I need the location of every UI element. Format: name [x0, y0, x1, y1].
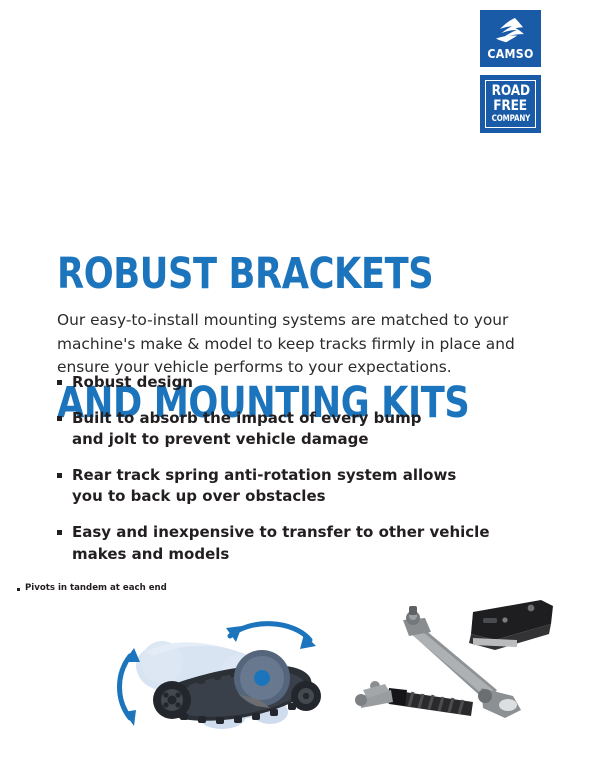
road-free-inner-border: ROAD FREE COMPANY [485, 80, 536, 128]
headline-line-1: ROBUST BRACKETS [57, 253, 469, 296]
square-bullet-icon [57, 473, 62, 478]
road-free-line-1: ROAD [491, 84, 529, 99]
track-drive-sprocket [234, 650, 290, 706]
camso-chevron-icon [494, 17, 528, 43]
road-free-line-3: COMPANY [491, 115, 529, 124]
pivot-arrow-top [226, 624, 316, 649]
list-item-label: Robust design [72, 372, 193, 394]
camso-logo-box: CAMSO [480, 10, 541, 67]
list-item: Rear track spring anti-rotation system a… [57, 465, 527, 508]
square-bullet-icon [57, 416, 62, 421]
track-rear-wheel [291, 681, 321, 711]
list-item: Built to absorb the impact of every bump… [57, 408, 527, 451]
coil-spring-damper [355, 681, 473, 716]
mounting-hardware-photo [345, 590, 570, 725]
road-free-line-2: FREE [494, 99, 528, 114]
intro-paragraph: Our easy-to-install mounting systems are… [57, 309, 527, 379]
mounting-bracket [469, 600, 553, 650]
pivot-arrow-left [120, 648, 141, 726]
footnote-label: Pivots in tandem at each end [25, 583, 167, 594]
camso-wordmark: CAMSO [484, 48, 538, 61]
feature-list: Robust design Built to absorb the impact… [57, 372, 527, 579]
road-free-company-logo-box: ROAD FREE COMPANY [480, 75, 541, 133]
list-item-label: Easy and inexpensive to transfer to othe… [72, 522, 490, 565]
rubber-track-pivot-diagram [110, 600, 345, 735]
square-bullet-icon [57, 530, 62, 535]
square-bullet-icon [57, 380, 62, 385]
list-item: Easy and inexpensive to transfer to othe… [57, 522, 527, 565]
track-front-wheel [153, 681, 191, 719]
footnote: Pivots in tandem at each end [17, 583, 167, 594]
list-item-label: Rear track spring anti-rotation system a… [72, 465, 456, 508]
brand-logo-block: CAMSO ROAD FREE COMPANY [480, 10, 541, 133]
square-bullet-icon [17, 588, 20, 591]
list-item: Robust design [57, 372, 527, 394]
list-item-label: Built to absorb the impact of every bump… [72, 408, 421, 451]
